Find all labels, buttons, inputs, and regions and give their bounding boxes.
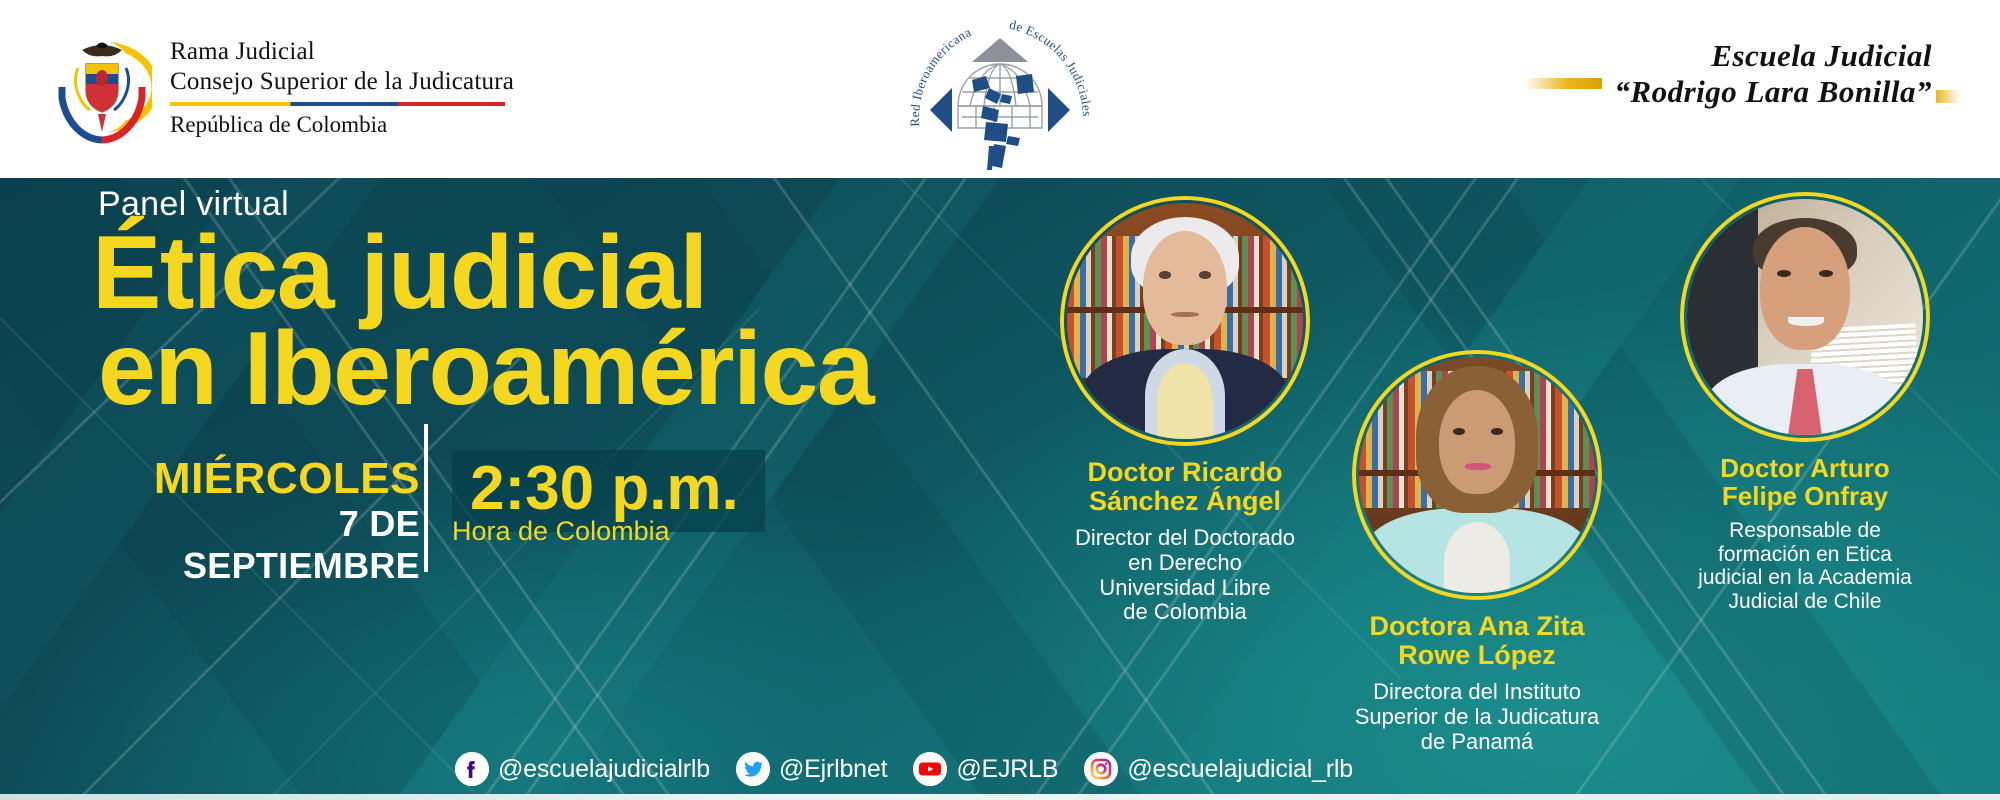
- poster-header: Rama Judicial Consejo Superior de la Jud…: [0, 0, 2000, 178]
- speaker-photo-3: [1680, 192, 1930, 442]
- rama-judicial-text: Rama Judicial Consejo Superior de la Jud…: [170, 37, 514, 138]
- social-twitter[interactable]: @Ejrlbnet: [736, 752, 887, 786]
- gold-bar-left-icon: [1524, 78, 1602, 89]
- rama-judicial-logo: Rama Judicial Consejo Superior de la Jud…: [52, 28, 514, 146]
- speaker-card-3: Doctor Arturo Felipe Onfray Responsable …: [1640, 192, 1970, 613]
- speaker-1-name-line2: Sánchez Ángel: [1025, 487, 1345, 516]
- colombia-flag-rule: [170, 102, 505, 106]
- escuela-judicial-line2: “Rodrigo Lara Bonilla”: [1614, 74, 1932, 110]
- speaker-1-role-line2: en Derecho: [1025, 551, 1345, 576]
- speaker-3-role-line2: formación en Etica: [1640, 543, 1970, 567]
- social-instagram[interactable]: @escuelajudicial_rlb: [1084, 752, 1353, 786]
- speaker-2-role-line2: Superior de la Judicatura: [1312, 705, 1642, 730]
- speaker-3-name-line2: Felipe Onfray: [1640, 482, 1970, 510]
- speaker-role-2: Directora del Instituto Superior de la J…: [1312, 680, 1642, 754]
- speaker-name-2: Doctora Ana Zita Rowe López: [1312, 612, 1642, 670]
- photo-ring-3: [1680, 192, 1930, 442]
- title-line-2: en Iberoamérica: [98, 321, 873, 417]
- youtube-icon[interactable]: [913, 752, 947, 786]
- red-iberoamericana-logo: Red Iberoamericana de Escuelas Judiciale…: [890, 10, 1110, 170]
- photo-ring-2: [1352, 350, 1602, 600]
- speaker-1-role-line3: Universidad Libre: [1025, 576, 1345, 601]
- time-text: 2:30 p.m.: [470, 456, 739, 522]
- speaker-role-1: Director del Doctorado en Derecho Univer…: [1025, 526, 1345, 625]
- escuela-judicial-line1: Escuela Judicial: [1614, 38, 1932, 74]
- gold-bar-right-icon: [1936, 90, 1960, 103]
- date-text: 7 DE SEPTIEMBRE: [150, 503, 420, 587]
- speaker-1-role-line4: de Colombia: [1025, 600, 1345, 625]
- speaker-card-2: Doctora Ana Zita Rowe López Directora de…: [1312, 350, 1642, 754]
- vertical-divider: [424, 424, 428, 572]
- speaker-2-name-line1: Doctora Ana Zita: [1312, 612, 1642, 641]
- speaker-photo-2: [1352, 350, 1602, 600]
- speaker-1-role-line1: Director del Doctorado: [1025, 526, 1345, 551]
- social-facebook[interactable]: @escuelajudicialrlb: [455, 752, 710, 786]
- twitter-icon[interactable]: [736, 752, 770, 786]
- speaker-card-1: Doctor Ricardo Sánchez Ángel Director de…: [1025, 196, 1345, 625]
- speaker-name-1: Doctor Ricardo Sánchez Ángel: [1025, 458, 1345, 516]
- social-bar: @escuelajudicialrlb @Ejrlbnet @EJRLB: [455, 752, 1353, 786]
- youtube-handle[interactable]: @EJRLB: [956, 755, 1058, 784]
- speaker-2-name-line2: Rowe López: [1312, 641, 1642, 670]
- speaker-role-3: Responsable de formación en Etica judici…: [1640, 519, 1970, 613]
- speaker-3-role-line3: judicial en la Academia: [1640, 566, 1970, 590]
- speaker-3-role-line1: Responsable de: [1640, 519, 1970, 543]
- timezone-text: Hora de Colombia: [452, 516, 670, 547]
- rama-judicial-line2: Consejo Superior de la Judicatura: [170, 67, 514, 97]
- page-title: Ética judicial en Iberoamérica: [92, 225, 873, 417]
- facebook-icon[interactable]: [455, 752, 489, 786]
- instagram-icon[interactable]: [1084, 752, 1118, 786]
- speaker-3-name-line1: Doctor Arturo: [1640, 454, 1970, 482]
- escuela-judicial-logo: Escuela Judicial “Rodrigo Lara Bonilla”: [1524, 38, 1960, 110]
- speaker-name-3: Doctor Arturo Felipe Onfray: [1640, 454, 1970, 510]
- day-of-week: MIÉRCOLES: [150, 455, 420, 503]
- speaker-photo-1: [1060, 196, 1310, 446]
- rama-judicial-line3: República de Colombia: [170, 111, 514, 138]
- social-youtube[interactable]: @EJRLB: [913, 752, 1058, 786]
- rama-judicial-line1: Rama Judicial: [170, 37, 514, 67]
- speaker-1-name-line1: Doctor Ricardo: [1025, 458, 1345, 487]
- title-line-1: Ética judicial: [92, 225, 873, 321]
- date-block: MIÉRCOLES 7 DE SEPTIEMBRE: [150, 455, 420, 587]
- event-poster: Rama Judicial Consejo Superior de la Jud…: [0, 0, 2000, 800]
- escuela-judicial-text: Escuela Judicial “Rodrigo Lara Bonilla”: [1614, 38, 1932, 110]
- instagram-handle[interactable]: @escuelajudicial_rlb: [1127, 755, 1353, 784]
- twitter-handle[interactable]: @Ejrlbnet: [779, 755, 887, 784]
- colombia-seal-icon: [52, 28, 152, 146]
- speaker-2-role-line1: Directora del Instituto: [1312, 680, 1642, 705]
- facebook-handle[interactable]: @escuelajudicialrlb: [498, 755, 710, 784]
- bottom-strip: [0, 794, 2000, 800]
- photo-ring-1: [1060, 196, 1310, 446]
- speaker-3-role-line4: Judicial de Chile: [1640, 590, 1970, 614]
- speaker-2-role-line3: de Panamá: [1312, 730, 1642, 755]
